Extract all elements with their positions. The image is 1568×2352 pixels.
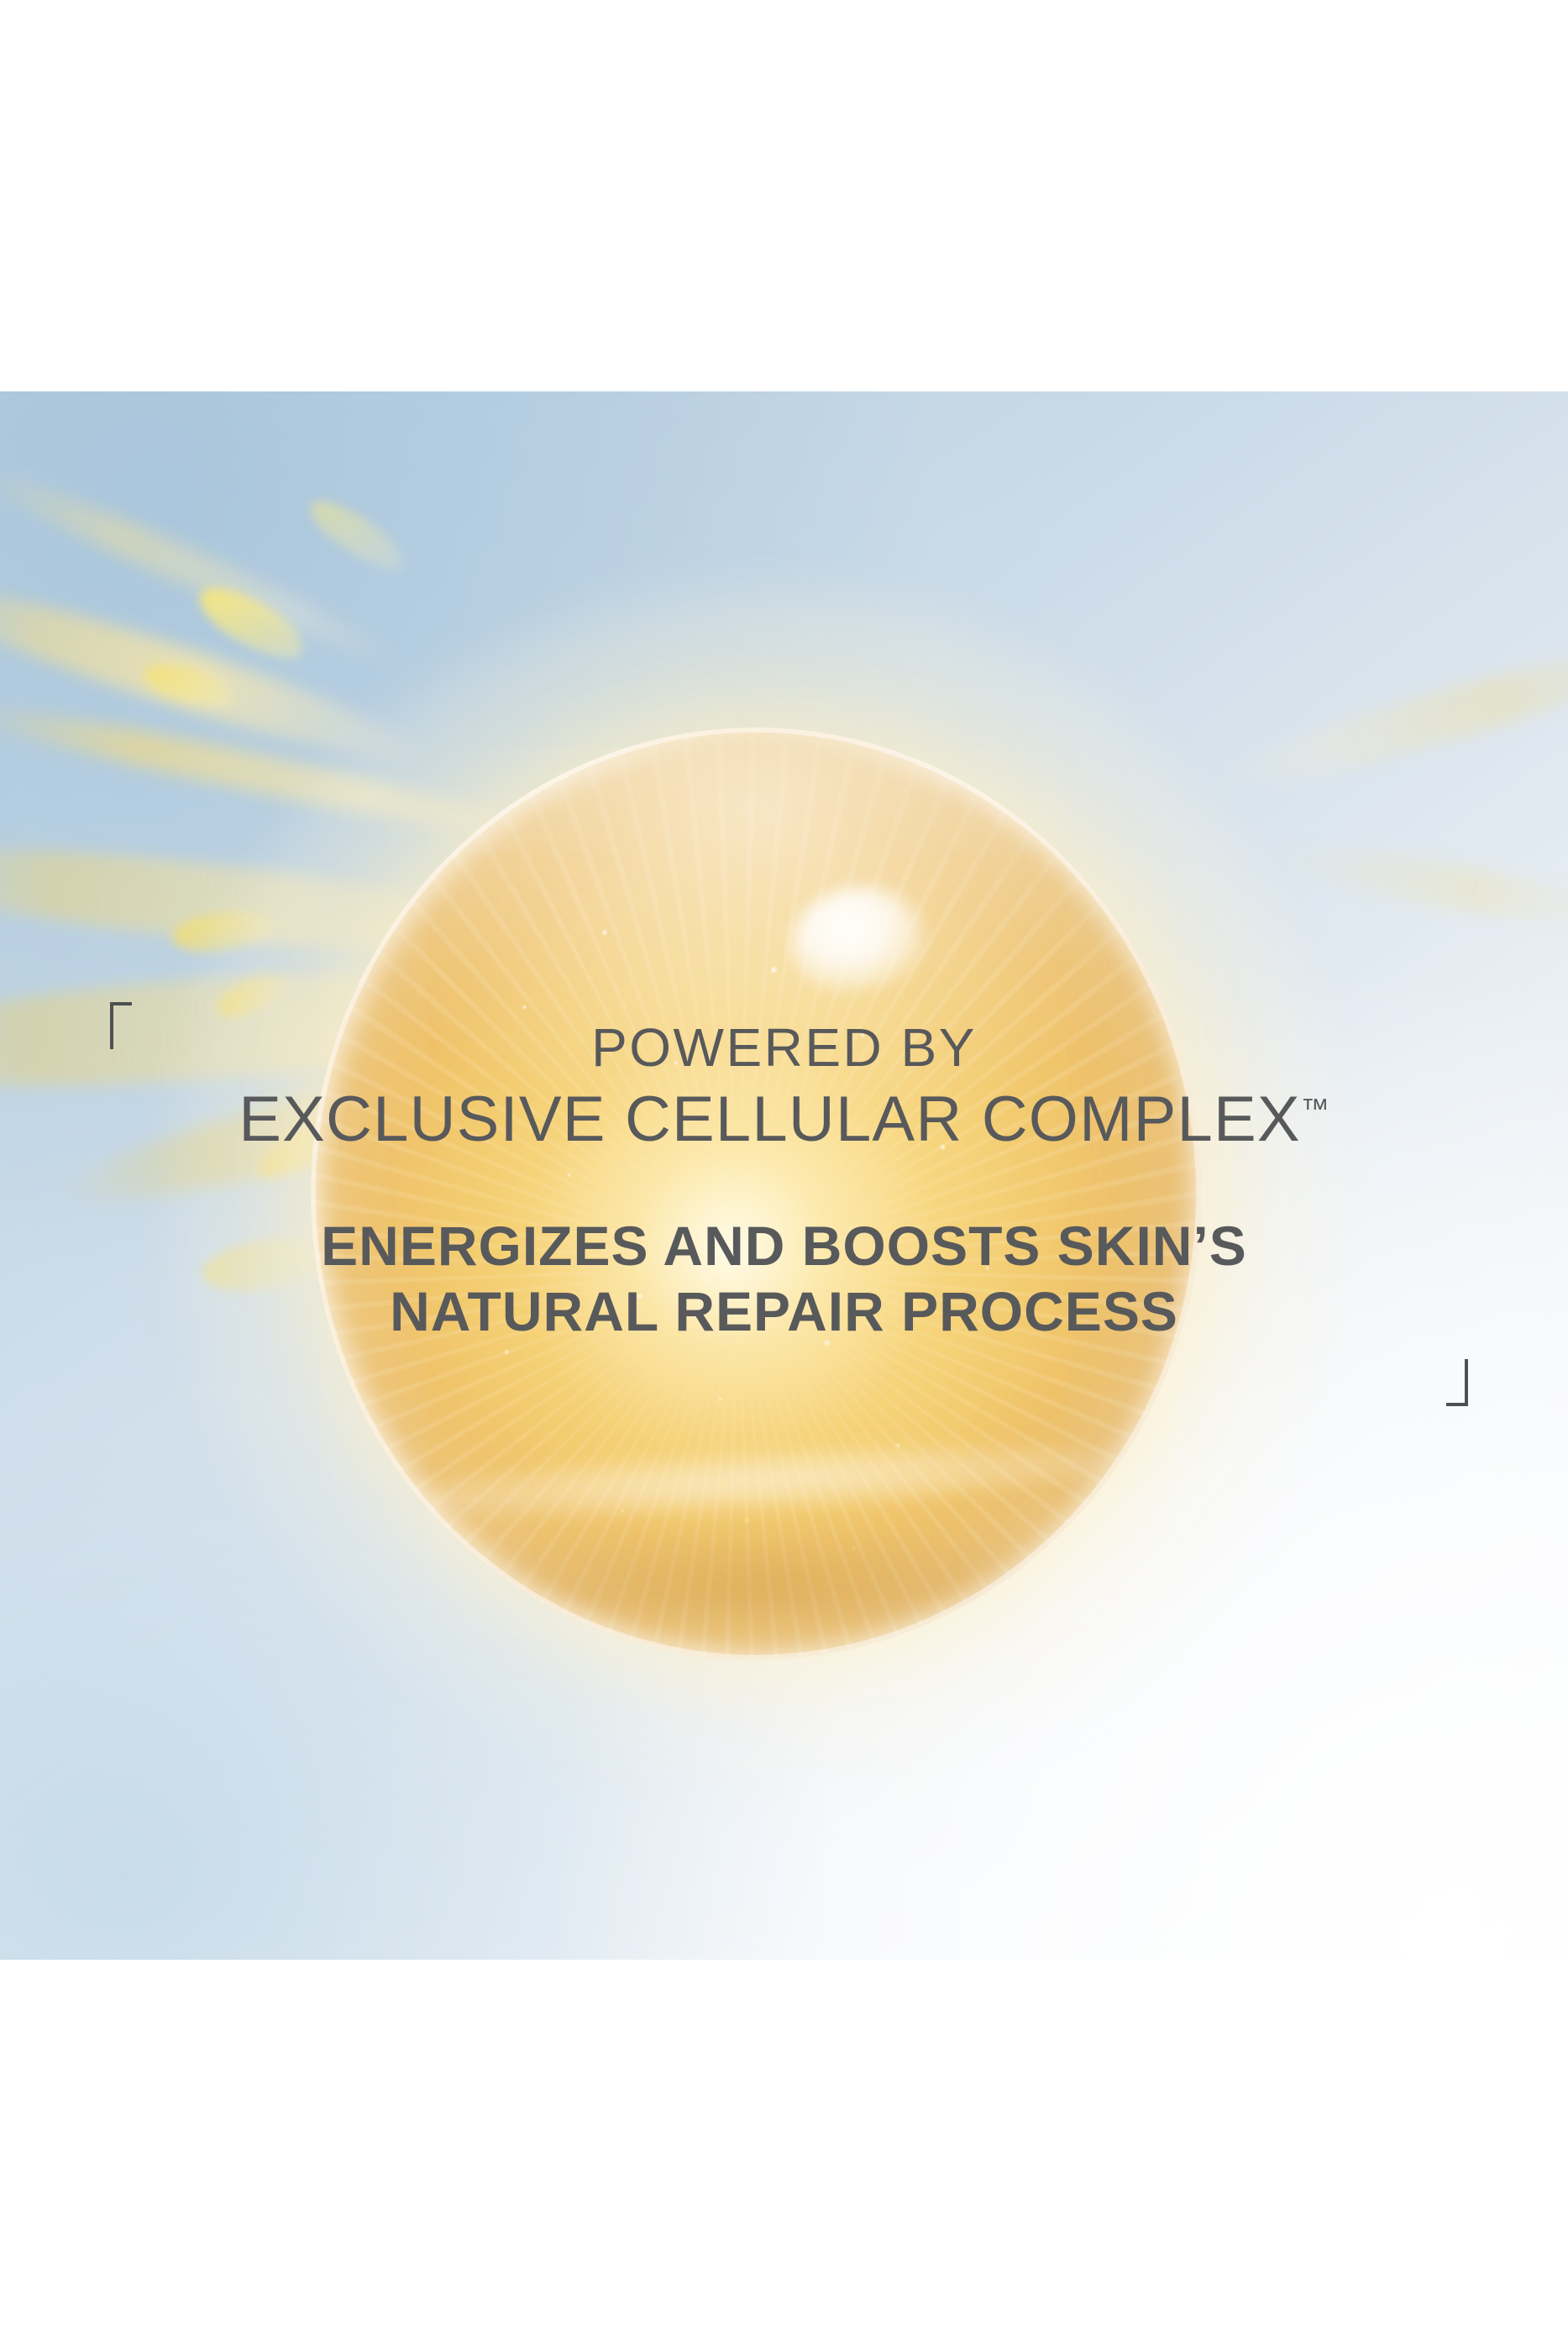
splash-streak — [0, 453, 407, 678]
marketing-copy-block: POWERED BY EXCLUSIVE CELLULAR COMPLEX™ E… — [0, 1021, 1568, 1345]
benefit-claim-line-2: NATURAL REPAIR PROCESS — [0, 1279, 1568, 1345]
splash-streak — [1265, 832, 1568, 937]
eyebrow-text: POWERED BY — [0, 1021, 1568, 1074]
trademark-symbol: ™ — [1301, 1094, 1329, 1126]
benefit-claim-line-1: ENERGIZES AND BOOSTS SKIN’S — [0, 1214, 1568, 1279]
splash-droplet — [190, 575, 313, 671]
splash-droplet — [140, 657, 239, 715]
benefit-claim: ENERGIZES AND BOOSTS SKIN’S NATURAL REPA… — [0, 1214, 1568, 1345]
splash-streak — [1201, 630, 1568, 808]
page-root: POWERED BY EXCLUSIVE CELLULAR COMPLEX™ E… — [0, 0, 1568, 2352]
product-complex-label: EXCLUSIVE CELLULAR COMPLEX — [239, 1084, 1301, 1155]
product-complex-name: EXCLUSIVE CELLULAR COMPLEX™ — [0, 1088, 1568, 1152]
splash-droplet — [302, 490, 412, 580]
